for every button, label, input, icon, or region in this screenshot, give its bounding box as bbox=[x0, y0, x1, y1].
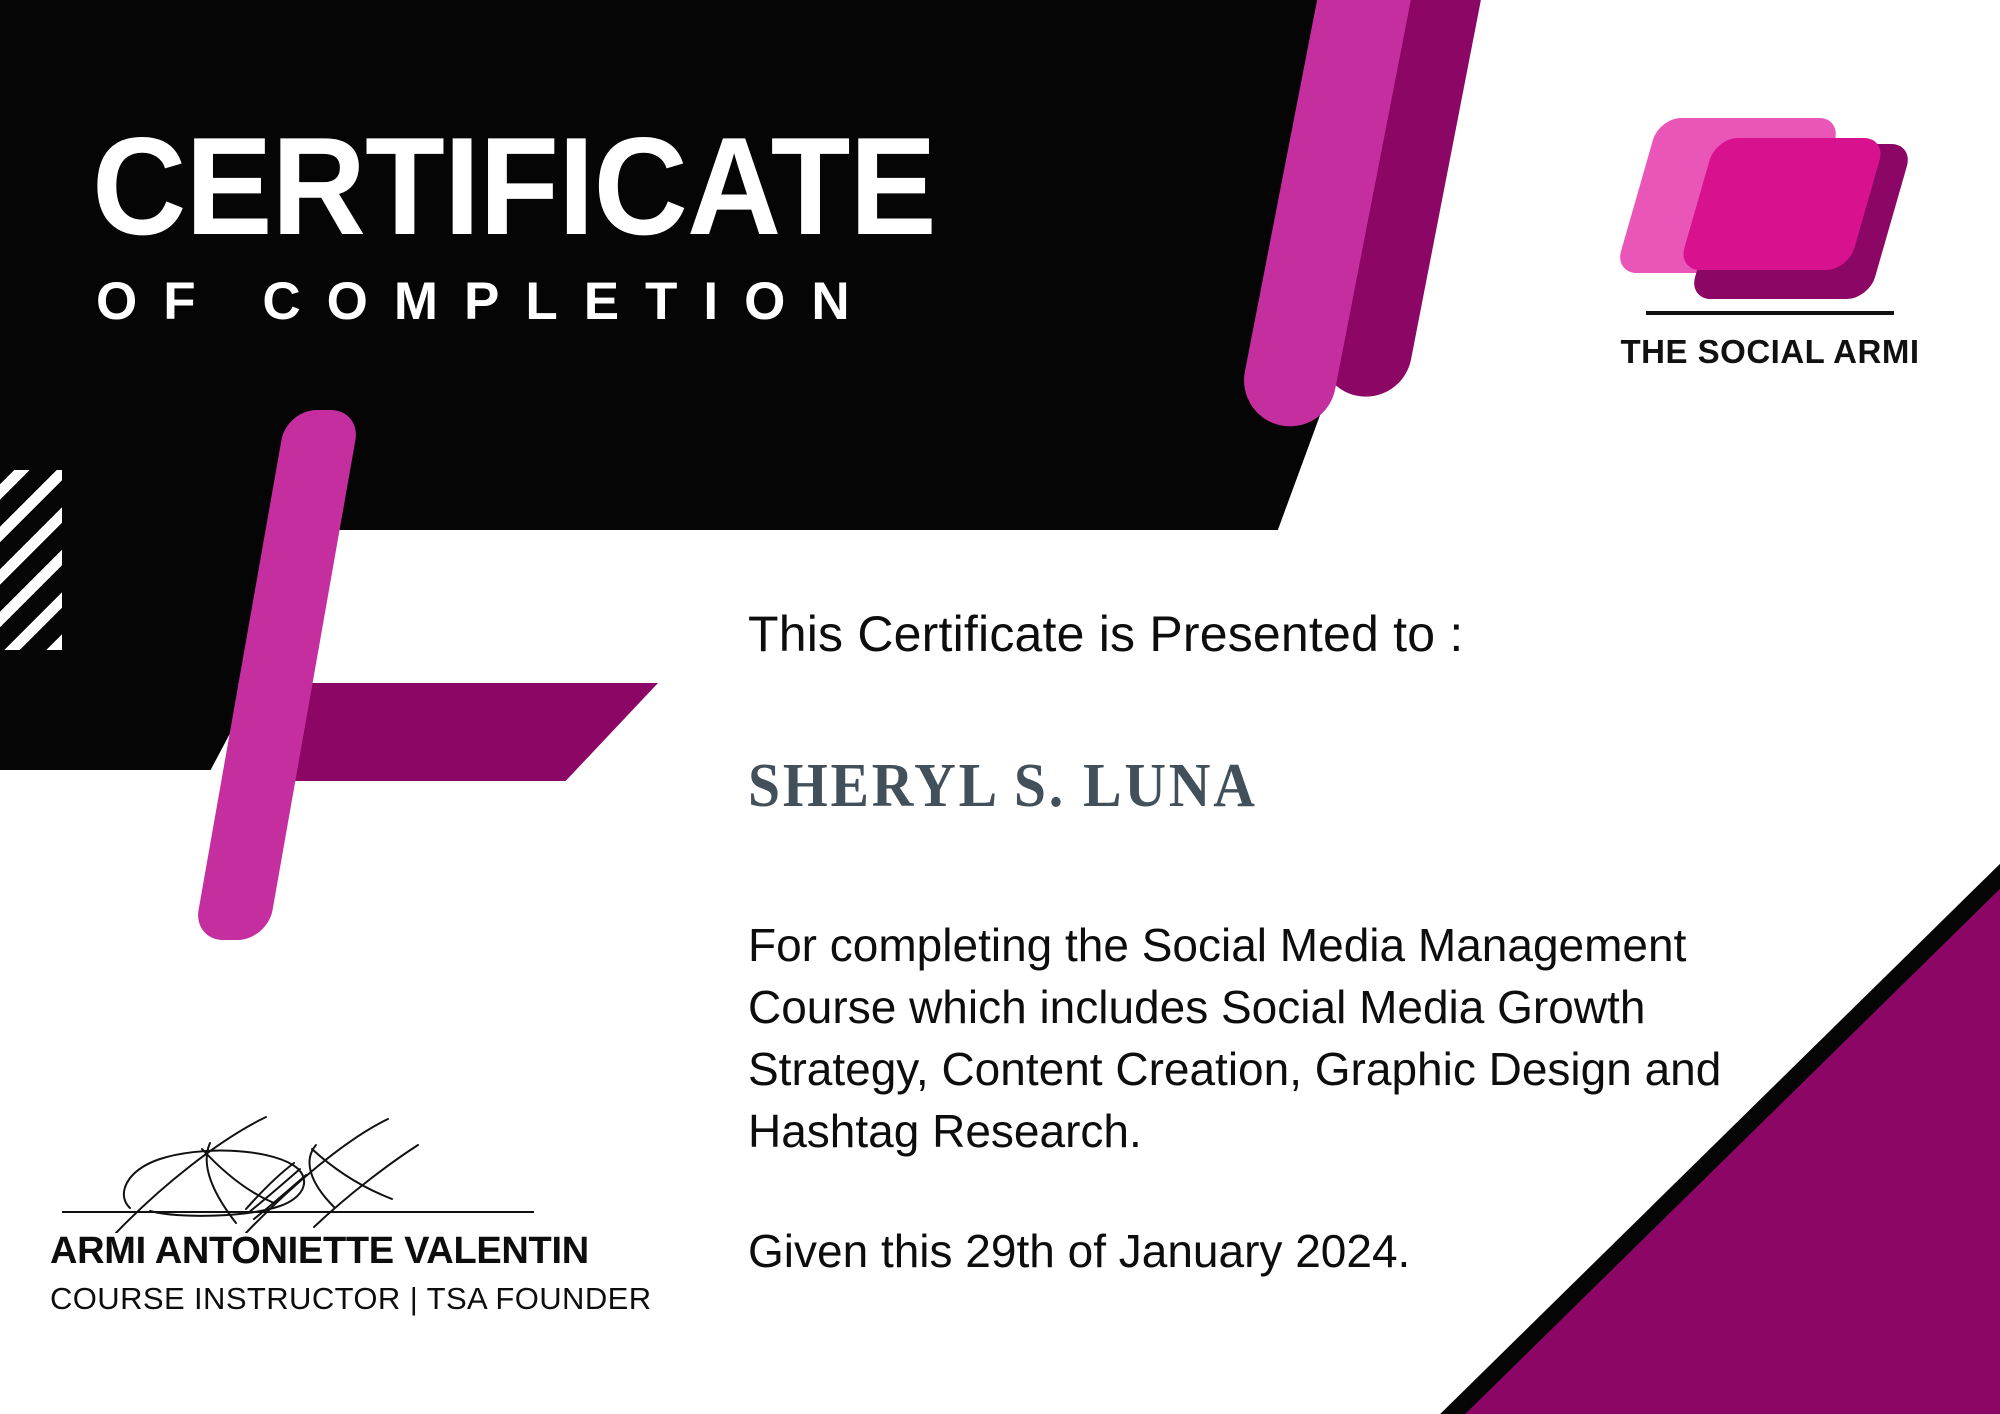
certificate-body: This Certificate is Presented to : SHERY… bbox=[748, 605, 1868, 1278]
signature-block: ARMI ANTONIETTE VALENTIN COURSE INSTRUCT… bbox=[50, 1115, 545, 1317]
given-date: Given this 29th of January 2024. bbox=[748, 1224, 1868, 1278]
certificate-title: CERTIFICATE bbox=[92, 120, 936, 253]
brand-name: THE SOCIAL ARMI bbox=[1605, 333, 1935, 371]
brand-logo-block: THE SOCIAL ARMI bbox=[1605, 100, 1935, 371]
handwritten-signature-icon bbox=[50, 1115, 545, 1223]
logo-mark-icon bbox=[1635, 100, 1905, 295]
signer-name: ARMI ANTONIETTE VALENTIN bbox=[50, 1230, 545, 1273]
course-description: For completing the Social Media Manageme… bbox=[748, 914, 1838, 1162]
certificate-header: CERTIFICATE OF COMPLETION bbox=[92, 120, 990, 332]
certificate-subtitle: OF COMPLETION bbox=[96, 271, 990, 332]
certificate-canvas: CERTIFICATE OF COMPLETION THE SOCIAL ARM… bbox=[0, 0, 2000, 1414]
signer-role: COURSE INSTRUCTOR | TSA FOUNDER bbox=[50, 1281, 545, 1317]
logo-divider-rule bbox=[1646, 311, 1894, 315]
presented-to-label: This Certificate is Presented to : bbox=[748, 605, 1868, 663]
diagonal-stripe-pattern bbox=[0, 470, 62, 650]
recipient-name: SHERYL S. LUNA bbox=[748, 751, 1790, 822]
